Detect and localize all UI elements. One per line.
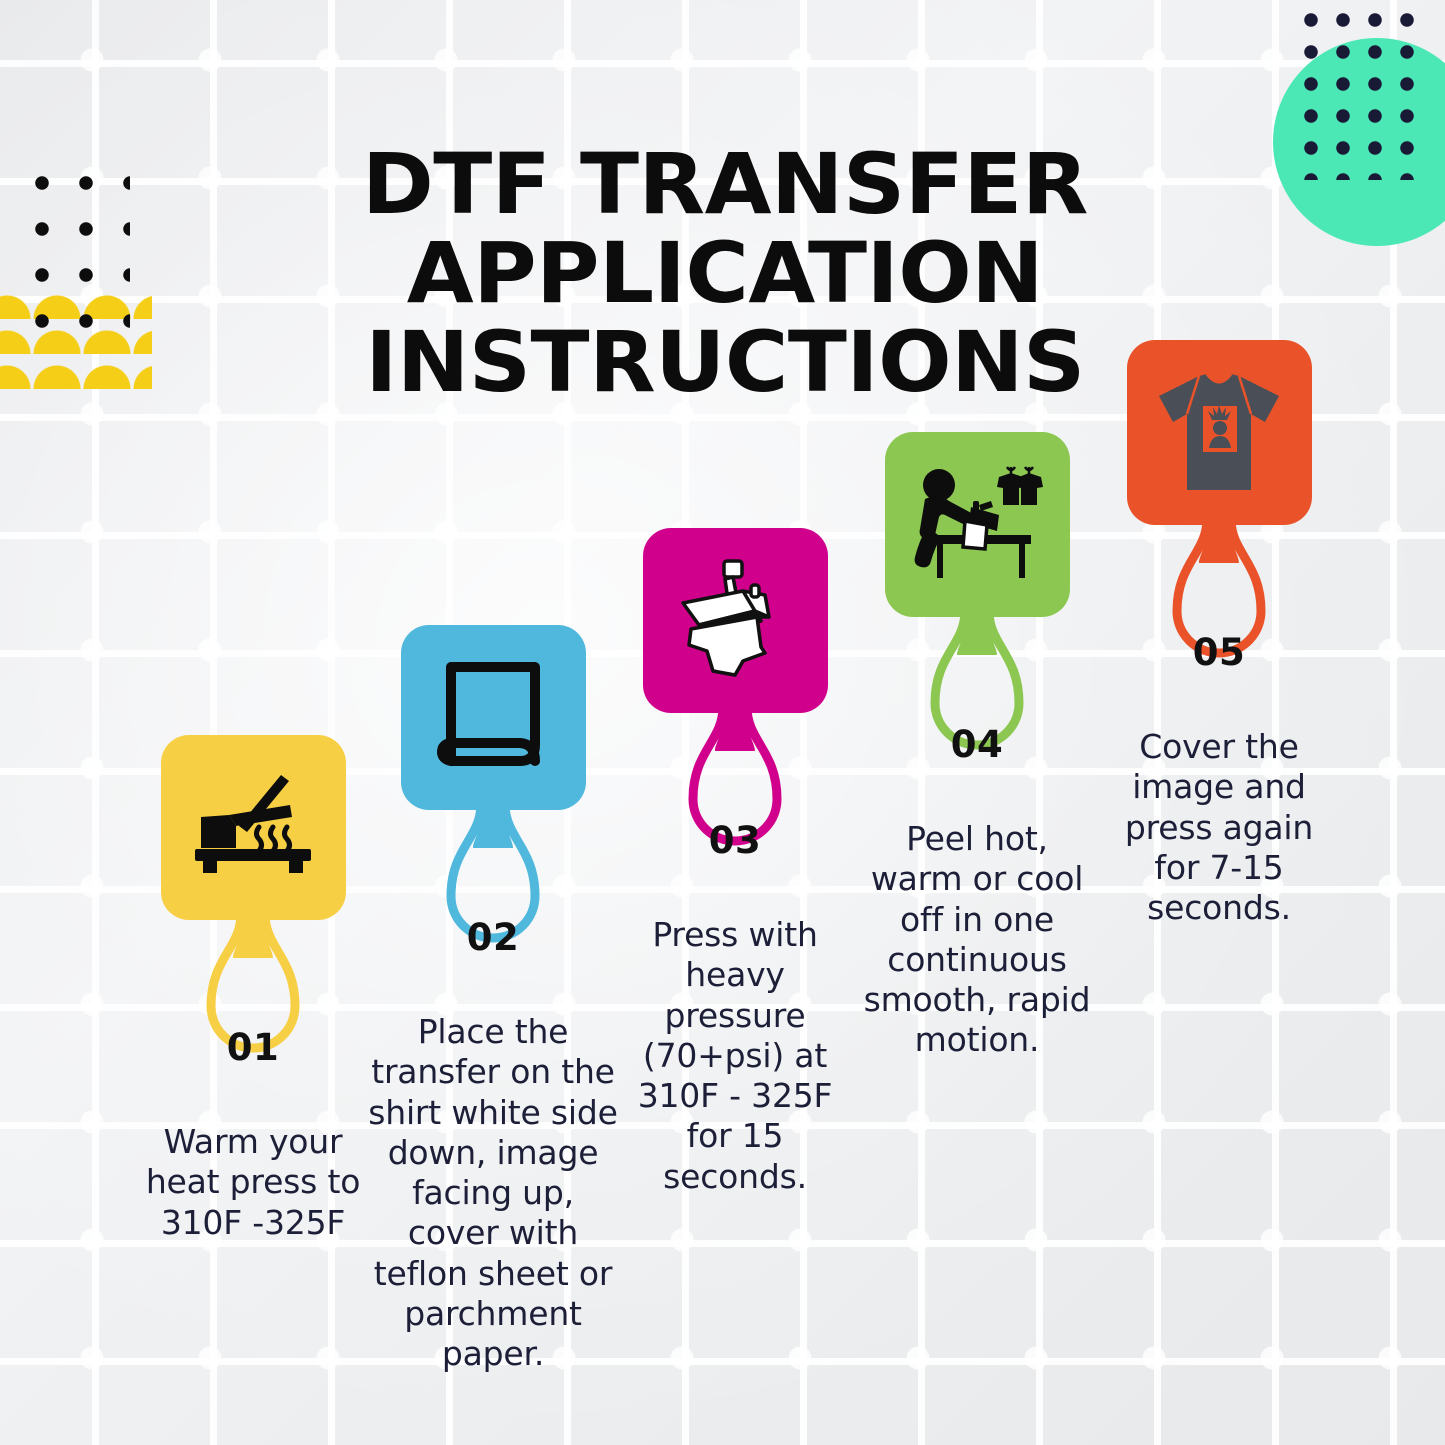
step-connector-05: 05 — [1159, 519, 1279, 715]
heat-press-machine-icon — [669, 555, 801, 687]
step-card-04 — [885, 432, 1070, 617]
step-card-05 — [1127, 340, 1312, 525]
step-item-03: 03 Press with heavy pressure (70+psi) at… — [610, 528, 860, 1197]
step-card-01 — [161, 735, 346, 920]
printed-tshirt-icon — [1151, 368, 1287, 498]
step-item-05: 05 Cover the image and press again for 7… — [1094, 340, 1344, 928]
step-connector-01: 01 — [193, 914, 313, 1110]
step-item-04: 04 Peel hot, warm or cool off in one con… — [852, 432, 1102, 1061]
step-number-02: 02 — [433, 916, 553, 959]
step-caption-01: Warm your heat press to 310F -325F — [127, 1122, 379, 1243]
step-card-03 — [643, 528, 828, 713]
transfer-sheet-icon — [433, 657, 553, 779]
step-connector-04: 04 — [917, 611, 1037, 807]
step-card-02 — [401, 625, 586, 810]
step-caption-02: Place the transfer on the shirt white si… — [367, 1012, 619, 1374]
step-connector-03: 03 — [675, 707, 795, 903]
person-peeling-transfer-icon — [907, 461, 1047, 589]
step-caption-05: Cover the image and press again for 7-15… — [1103, 727, 1335, 928]
step-item-01: 01 Warm your heat press to 310F -325F — [128, 735, 378, 1243]
step-number-01: 01 — [193, 1026, 313, 1069]
step-caption-03: Press with heavy pressure (70+psi) at 31… — [615, 915, 855, 1197]
step-connector-02: 02 — [433, 804, 553, 1000]
step-number-04: 04 — [917, 723, 1037, 766]
step-item-02: 02 Place the transfer on the shirt white… — [368, 625, 618, 1374]
infographic-poster: DTF TRANSFER APPLICATION INSTRUCTIONS — [0, 0, 1445, 1445]
steps-container: 01 Warm your heat press to 310F -325F — [0, 0, 1445, 1445]
step-caption-04: Peel hot, warm or cool off in one contin… — [857, 819, 1097, 1061]
step-number-03: 03 — [675, 819, 795, 862]
heat-press-open-icon — [189, 769, 317, 887]
step-number-05: 05 — [1159, 631, 1279, 674]
